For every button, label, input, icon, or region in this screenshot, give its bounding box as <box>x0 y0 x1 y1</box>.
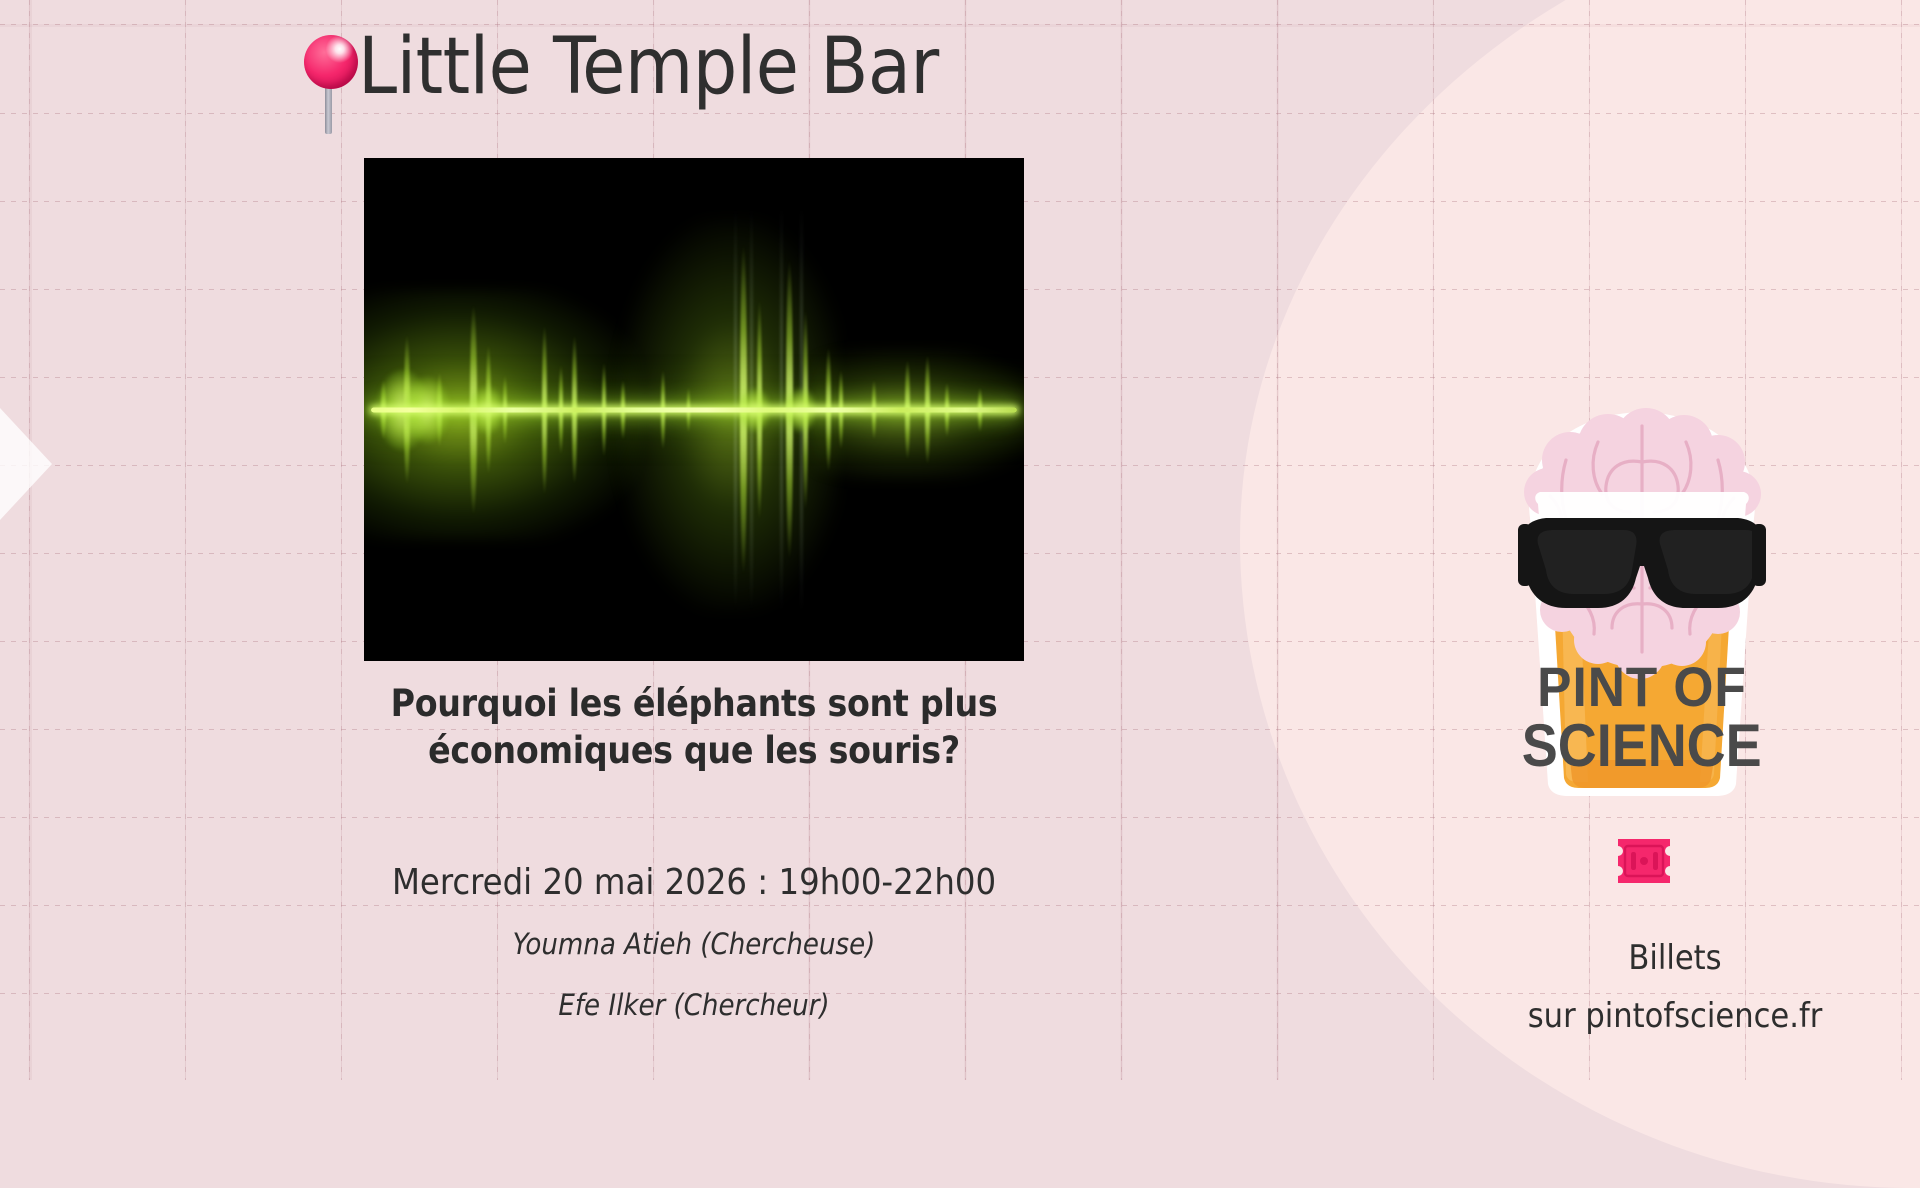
speaker-item: Youmna Atieh (Chercheuse) <box>364 930 1024 959</box>
event-title-line-2: économiques que les souris? <box>428 729 960 772</box>
map-pin-needle <box>325 88 332 134</box>
svg-text:SCIENCE: SCIENCE <box>1522 712 1762 779</box>
waveform-core-line <box>371 407 1018 412</box>
map-pin-head <box>304 35 358 89</box>
tickets-label: Billets <box>1430 938 1920 978</box>
venue-name: Little Temple Bar <box>358 28 939 106</box>
tickets-url: sur pintofscience.fr <box>1430 996 1920 1036</box>
ticket-icon <box>1610 835 1678 887</box>
event-card: Little Temple Bar <box>0 0 1240 1080</box>
svg-text:PINT OF: PINT OF <box>1537 656 1747 718</box>
pint-of-science-logo: PINT OF SCIENCE <box>1504 400 1780 798</box>
event-title-line-1: Pourquoi les éléphants sont plus <box>391 682 998 725</box>
waveform-glow-right <box>813 349 1024 480</box>
event-datetime: Mercredi 20 mai 2026 : 19h00-22h00 <box>364 862 1024 903</box>
event-title: Pourquoi les éléphants sont plus économi… <box>364 680 1024 775</box>
speaker-item: Efe Ilker (Chercheur) <box>364 991 1024 1020</box>
speaker-list: Youmna Atieh (Chercheuse) Efe Ilker (Che… <box>364 930 1024 1052</box>
event-image <box>364 158 1024 661</box>
venue-header: Little Temple Bar <box>296 28 939 134</box>
ticket-panel: PINT OF SCIENCE Billets sur pintofscienc… <box>1430 0 1920 1080</box>
map-pin-icon <box>296 32 358 134</box>
